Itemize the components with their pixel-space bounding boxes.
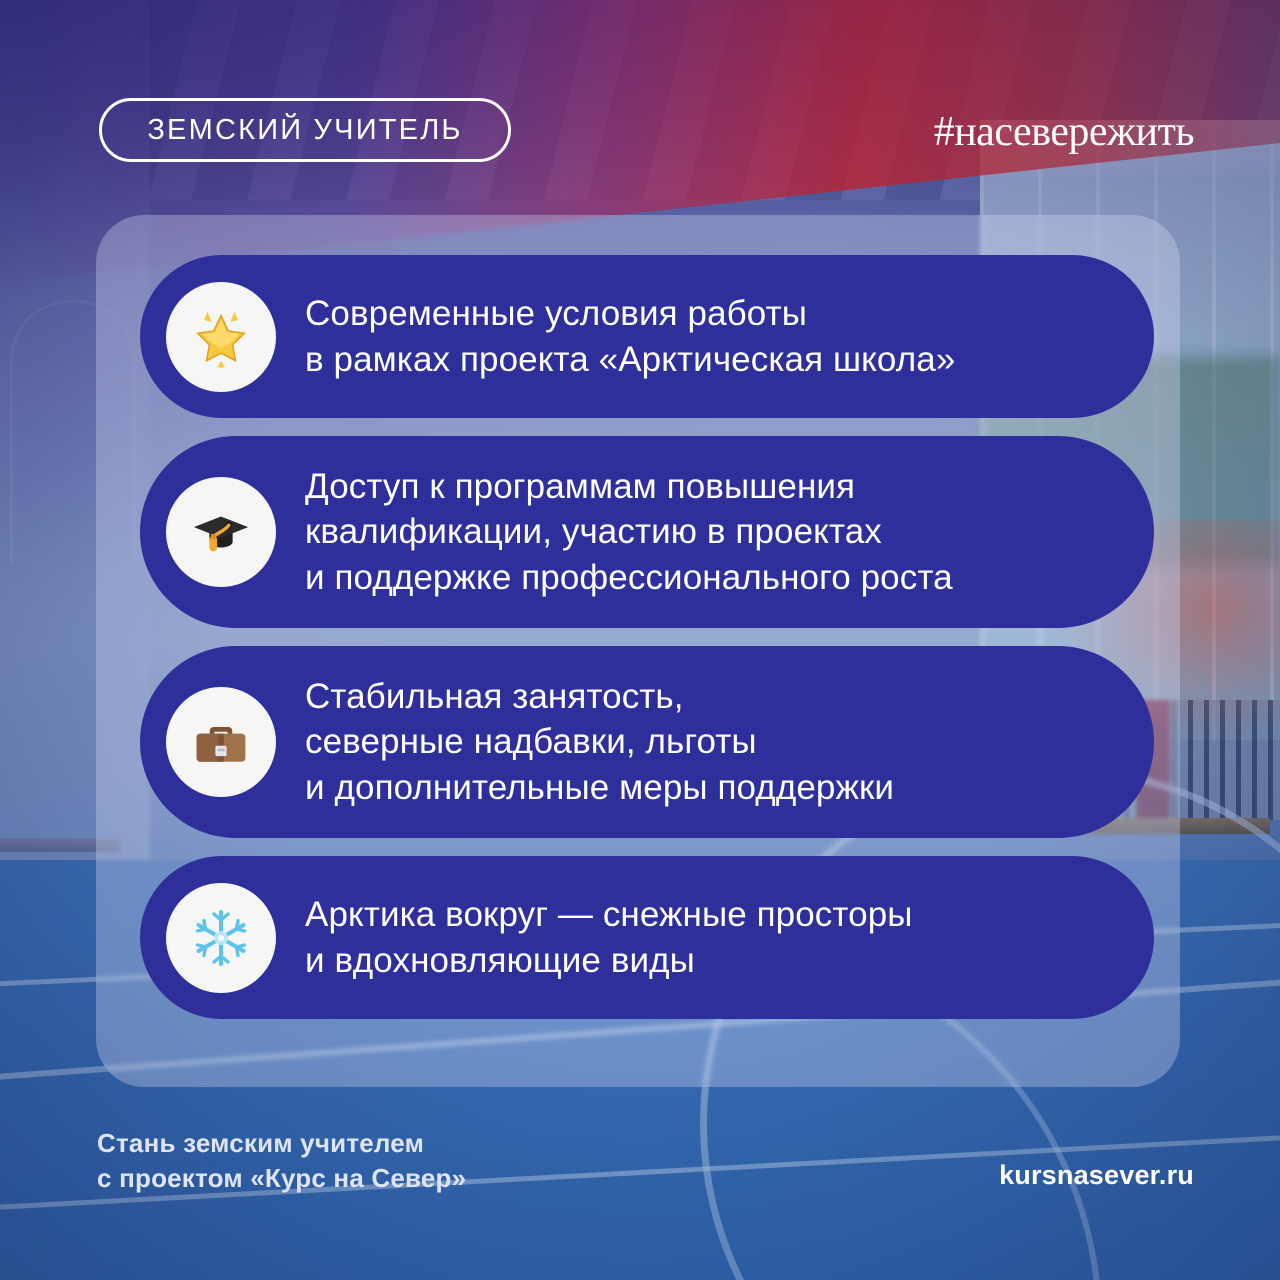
benefit-card-3: Стабильная занятость, северные надбавки,… bbox=[140, 646, 1154, 838]
benefit-card-4-text: Арктика вокруг — снежные просторы и вдох… bbox=[305, 892, 913, 983]
benefit-line: и вдохновляющие виды bbox=[305, 938, 913, 984]
benefit-card-1: Современные условия работы в рамках прое… bbox=[140, 255, 1154, 418]
benefit-card-2-text: Доступ к программам повышения квалификац… bbox=[305, 464, 953, 601]
benefit-line: и поддержке профессионального роста bbox=[305, 555, 953, 601]
brand-badge: ЗЕМСКИЙ УЧИТЕЛЬ bbox=[99, 98, 511, 162]
briefcase-icon bbox=[166, 687, 276, 797]
benefits-list: Современные условия работы в рамках прое… bbox=[140, 255, 1154, 1019]
brand-label: ЗЕМСКИЙ УЧИТЕЛЬ bbox=[147, 114, 462, 147]
benefit-line: Доступ к программам повышения bbox=[305, 464, 953, 510]
benefit-card-4: Арктика вокруг — снежные просторы и вдох… bbox=[140, 856, 1154, 1019]
footer-website-url[interactable]: kursnasever.ru bbox=[999, 1160, 1194, 1191]
snowflake-icon bbox=[166, 883, 276, 993]
benefit-line: и дополнительные меры поддержки bbox=[305, 765, 894, 811]
campaign-hashtag: #насевережить bbox=[934, 108, 1194, 156]
benefit-line: Арктика вокруг — снежные просторы bbox=[305, 892, 913, 938]
graduation-cap-icon bbox=[166, 477, 276, 587]
benefit-line: в рамках проекта «Арктическая школа» bbox=[305, 337, 955, 383]
benefit-line: Современные условия работы bbox=[305, 291, 955, 337]
benefit-line: Стабильная занятость, bbox=[305, 674, 894, 720]
benefit-card-2: Доступ к программам повышения квалификац… bbox=[140, 436, 1154, 628]
benefit-line: северные надбавки, льготы bbox=[305, 719, 894, 765]
footer-cta-line-1: Стань земским учителем bbox=[97, 1126, 466, 1161]
footer-cta-line-2: с проектом «Курс на Север» bbox=[97, 1161, 466, 1196]
footer-cta: Стань земским учителем с проектом «Курс … bbox=[97, 1126, 466, 1196]
poster-root: ЗЕМСКИЙ УЧИТЕЛЬ #насевережить Современны… bbox=[0, 0, 1280, 1280]
benefit-card-1-text: Современные условия работы в рамках прое… bbox=[305, 291, 955, 382]
glowing-star-icon bbox=[166, 282, 276, 392]
benefit-card-3-text: Стабильная занятость, северные надбавки,… bbox=[305, 674, 894, 811]
briefcase-icon-svg bbox=[191, 712, 251, 772]
snowflake-icon-svg bbox=[189, 906, 253, 970]
glowing-star-icon-svg bbox=[190, 306, 252, 368]
benefit-line: квалификации, участию в проектах bbox=[305, 509, 953, 555]
graduation-cap-icon-svg bbox=[190, 501, 252, 563]
